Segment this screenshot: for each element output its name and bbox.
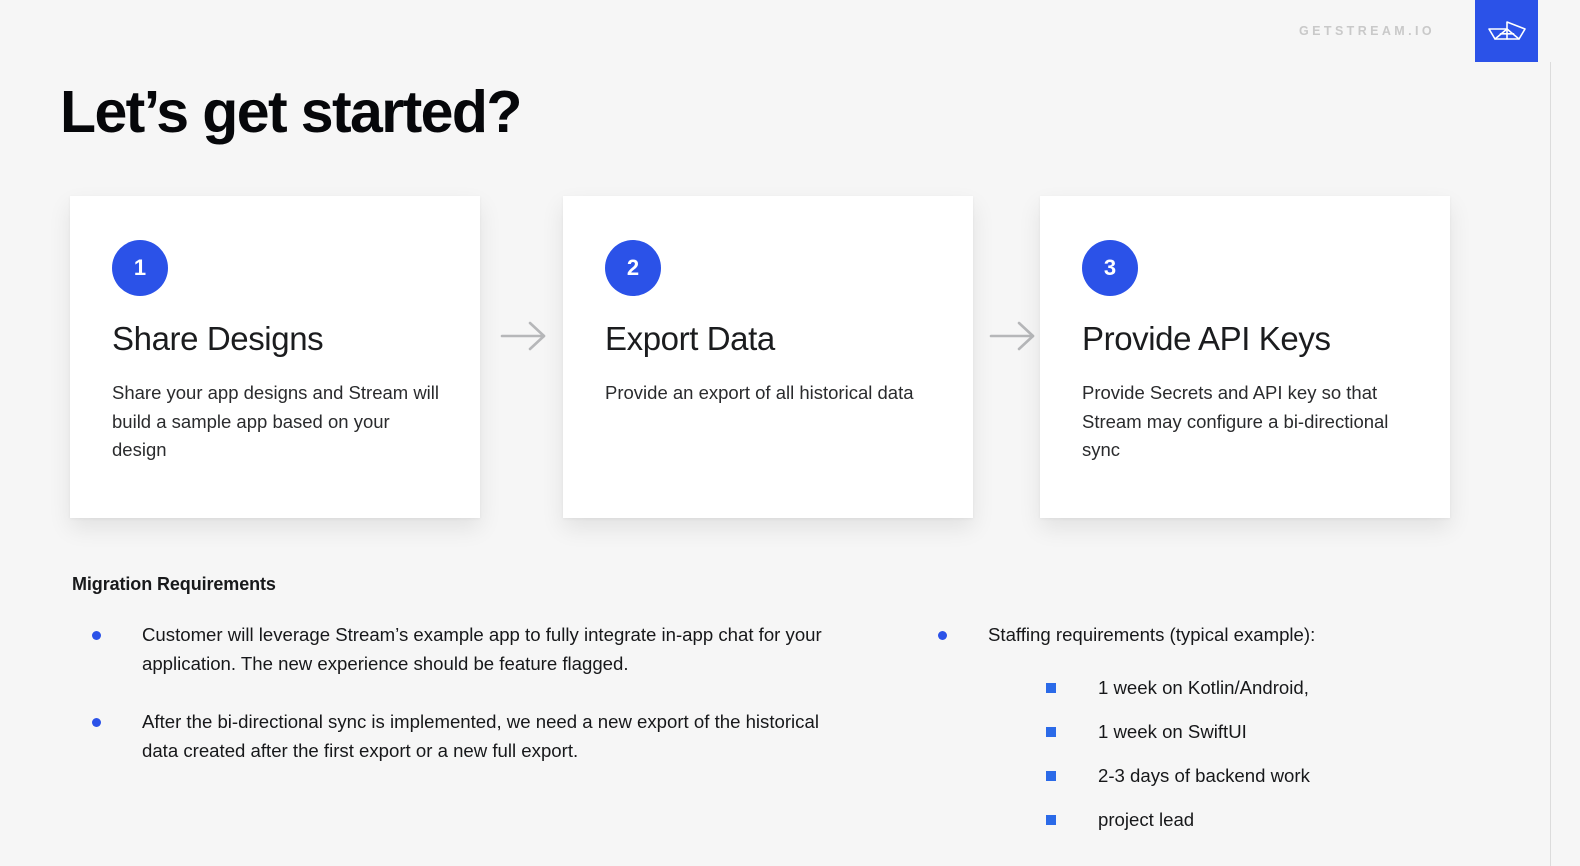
step-body: Provide Secrets and API key so that Stre…: [1082, 379, 1410, 465]
sub-list-item-label: 1 week on Kotlin/Android,: [1098, 677, 1309, 698]
bullet-dot-icon: [938, 631, 947, 640]
list-item-label: Staffing requirements (typical example):: [988, 620, 1458, 649]
staffing-sublist: 1 week on Kotlin/Android, 1 week on Swif…: [1026, 673, 1462, 834]
steps-row: 1 Share Designs Share your app designs a…: [70, 196, 1450, 518]
requirements-left-list: Customer will leverage Stream’s example …: [72, 620, 902, 765]
page-title: Let’s get started?: [60, 76, 521, 148]
sub-list-item: 1 week on SwiftUI: [1026, 717, 1462, 746]
step-heading: Provide API Keys: [1082, 319, 1410, 359]
requirements-columns: Customer will leverage Stream’s example …: [72, 620, 1512, 834]
sub-list-item-label: 1 week on SwiftUI: [1098, 721, 1247, 742]
step-body: Provide an export of all historical data: [605, 379, 933, 408]
step-card-3[interactable]: 3 Provide API Keys Provide Secrets and A…: [1040, 196, 1450, 518]
requirements-right-list: Staffing requirements (typical example):…: [918, 620, 1462, 834]
step-card-2[interactable]: 2 Export Data Provide an export of all h…: [563, 196, 973, 518]
page-divider: [1550, 62, 1551, 866]
bullet-dot-icon: [92, 631, 101, 640]
step-number-badge: 3: [1082, 240, 1138, 296]
bullet-square-icon: [1046, 683, 1056, 693]
requirements-left-column: Customer will leverage Stream’s example …: [72, 620, 902, 834]
list-item-label: After the bi-directional sync is impleme…: [142, 707, 842, 765]
requirements-title: Migration Requirements: [72, 574, 276, 595]
step-number-badge: 2: [605, 240, 661, 296]
sub-list-item-label: project lead: [1098, 809, 1194, 830]
brand-wordmark: GETSTREAM.IO: [1299, 24, 1435, 38]
list-item: After the bi-directional sync is impleme…: [72, 707, 902, 765]
sub-list-item: 2-3 days of backend work: [1026, 761, 1462, 790]
bullet-square-icon: [1046, 727, 1056, 737]
list-item-label: Customer will leverage Stream’s example …: [142, 620, 842, 678]
sub-list-item-label: 2-3 days of backend work: [1098, 765, 1310, 786]
step-heading: Share Designs: [112, 319, 440, 359]
sub-list-item: 1 week on Kotlin/Android,: [1026, 673, 1462, 702]
sub-list-item: project lead: [1026, 805, 1462, 834]
list-item: Customer will leverage Stream’s example …: [72, 620, 902, 678]
arrow-right-icon: [498, 314, 550, 358]
brand-logo[interactable]: [1475, 0, 1538, 62]
bullet-square-icon: [1046, 815, 1056, 825]
step-body: Share your app designs and Stream will b…: [112, 379, 440, 465]
bullet-square-icon: [1046, 771, 1056, 781]
list-item: Staffing requirements (typical example):…: [918, 620, 1462, 834]
arrow-right-icon: [987, 314, 1039, 358]
step-number-badge: 1: [112, 240, 168, 296]
requirements-right-column: Staffing requirements (typical example):…: [902, 620, 1462, 834]
bullet-dot-icon: [92, 718, 101, 727]
step-card-1[interactable]: 1 Share Designs Share your app designs a…: [70, 196, 480, 518]
paper-boat-icon: [1487, 19, 1527, 43]
step-heading: Export Data: [605, 319, 933, 359]
